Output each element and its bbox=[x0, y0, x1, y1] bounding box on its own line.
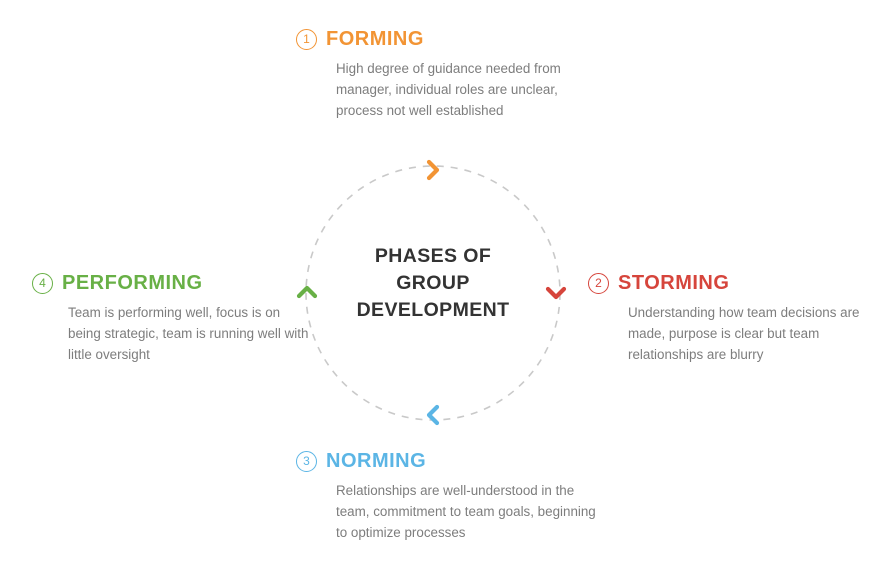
phase-forming-header: 1 FORMING bbox=[296, 28, 596, 51]
phase-performing-title: PERFORMING bbox=[62, 272, 203, 295]
phase-forming-description: High degree of guidance needed from mana… bbox=[336, 58, 596, 121]
phase-norming-title: NORMING bbox=[326, 450, 426, 473]
phase-norming-number-badge: 3 bbox=[296, 451, 317, 472]
phase-storming-title: STORMING bbox=[618, 272, 729, 295]
chevron-right-icon bbox=[418, 155, 448, 185]
phase-performing-header: 4 PERFORMING bbox=[32, 272, 312, 295]
group-development-diagram: PHASES OF GROUP DEVELOPMENT 1 FORMING Hi… bbox=[0, 0, 889, 567]
phase-performing: 4 PERFORMING Team is performing well, fo… bbox=[32, 272, 312, 365]
phase-storming: 2 STORMING Understanding how team decisi… bbox=[588, 272, 888, 365]
phase-forming-number-badge: 1 bbox=[296, 29, 317, 50]
diagram-center-title: PHASES OF GROUP DEVELOPMENT bbox=[333, 243, 533, 324]
phase-norming-description: Relationships are well-understood in the… bbox=[336, 480, 596, 543]
center-title-line-2: GROUP bbox=[333, 270, 533, 297]
phase-performing-description: Team is performing well, focus is on bei… bbox=[68, 302, 314, 365]
phase-storming-description: Understanding how team decisions are mad… bbox=[628, 302, 889, 365]
center-title-line-3: DEVELOPMENT bbox=[333, 297, 533, 324]
chevron-down-icon bbox=[541, 278, 571, 308]
phase-storming-number-badge: 2 bbox=[588, 273, 609, 294]
phase-forming-title: FORMING bbox=[326, 28, 424, 51]
center-title-line-1: PHASES OF bbox=[333, 243, 533, 270]
phase-norming-header: 3 NORMING bbox=[296, 450, 596, 473]
phase-performing-number-badge: 4 bbox=[32, 273, 53, 294]
phase-norming: 3 NORMING Relationships are well-underst… bbox=[296, 450, 596, 543]
phase-forming: 1 FORMING High degree of guidance needed… bbox=[296, 28, 596, 121]
phase-storming-header: 2 STORMING bbox=[588, 272, 888, 295]
chevron-left-icon bbox=[418, 400, 448, 430]
